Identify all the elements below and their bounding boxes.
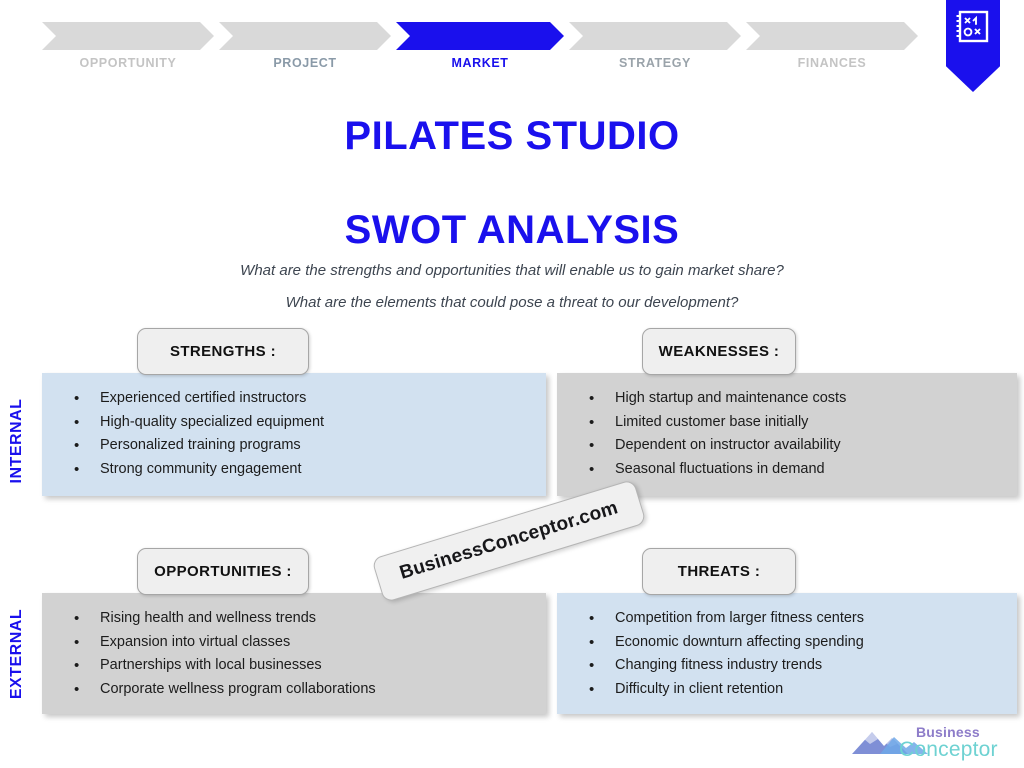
list-item: • Experienced certified instructors [42, 387, 546, 411]
company-title: PILATES STUDIO [0, 114, 1024, 159]
quadrant-title: STRENGTHS : [170, 343, 276, 360]
list-item-text: Personalized training programs [100, 434, 301, 458]
breadcrumb-step-label: FINANCES [746, 56, 918, 70]
bullet-icon: • [74, 678, 100, 702]
list-item: • High startup and maintenance costs [557, 387, 1017, 411]
list-item: • Dependent on instructor availability [557, 434, 1017, 458]
quadrant-header-weaknesses: WEAKNESSES : [642, 328, 796, 375]
list-item: • Expansion into virtual classes [42, 631, 546, 655]
quadrant-header-strengths: STRENGTHS : [137, 328, 309, 375]
quadrant-title: OPPORTUNITIES : [154, 563, 292, 580]
quadrant-header-opportunities: OPPORTUNITIES : [137, 548, 309, 595]
bullet-icon: • [74, 654, 100, 678]
list-item-text: Economic downturn affecting spending [615, 631, 864, 655]
quadrant-threats: THREATS : • Competition from larger fitn… [557, 548, 1017, 714]
list-item-text: High startup and maintenance costs [615, 387, 846, 411]
quadrant-header-threats: THREATS : [642, 548, 796, 595]
list-item: • Rising health and wellness trends [42, 607, 546, 631]
bullet-icon: • [74, 458, 100, 482]
list-item: • Corporate wellness program collaborati… [42, 678, 546, 702]
list-item: • Economic downturn affecting spending [557, 631, 1017, 655]
list-item-text: Strong community engagement [100, 458, 302, 482]
breadcrumb: OPPORTUNITY PROJECT MARKET STRATEGY FINA… [0, 0, 1024, 90]
quadrant-body-strengths: • Experienced certified instructors • Hi… [42, 373, 546, 496]
list-item-text: Competition from larger fitness centers [615, 607, 864, 631]
step-arrow-shape [746, 22, 918, 50]
bullet-icon: • [74, 434, 100, 458]
list-item-text: Corporate wellness program collaboration… [100, 678, 376, 702]
list-item: • Seasonal fluctuations in demand [557, 458, 1017, 482]
footer-logo: Business Conceptor [850, 718, 1010, 762]
list-item: • Personalized training programs [42, 434, 546, 458]
bullet-icon: • [589, 411, 615, 435]
list-item-text: Experienced certified instructors [100, 387, 306, 411]
breadcrumb-step-label: PROJECT [219, 56, 391, 70]
quadrant-body-opportunities: • Rising health and wellness trends • Ex… [42, 593, 546, 714]
analysis-title: SWOT ANALYSIS [0, 208, 1024, 253]
quadrant-strengths: STRENGTHS : • Experienced certified inst… [42, 328, 546, 496]
list-item-text: Expansion into virtual classes [100, 631, 290, 655]
bullet-icon: • [589, 678, 615, 702]
subtitle-question-2: What are the elements that could pose a … [0, 294, 1024, 311]
bullet-icon: • [589, 387, 615, 411]
footer-logo-word-conceptor: Conceptor [899, 738, 998, 762]
list-item-text: Rising health and wellness trends [100, 607, 316, 631]
breadcrumb-step-strategy[interactable]: STRATEGY [569, 22, 741, 50]
breadcrumb-step-label: STRATEGY [569, 56, 741, 70]
step-arrow-shape-active [396, 22, 564, 50]
bullet-icon: • [74, 411, 100, 435]
breadcrumb-step-label: MARKET [396, 56, 564, 70]
list-item-text: Partnerships with local businesses [100, 654, 322, 678]
list-item: • Changing fitness industry trends [557, 654, 1017, 678]
list-item: • Partnerships with local businesses [42, 654, 546, 678]
list-item-text: Seasonal fluctuations in demand [615, 458, 825, 482]
quadrant-title: WEAKNESSES : [659, 343, 780, 360]
list-item: • Difficulty in client retention [557, 678, 1017, 702]
quadrant-title: THREATS : [678, 563, 760, 580]
bullet-icon: • [589, 607, 615, 631]
bullet-icon: • [589, 631, 615, 655]
step-arrow-shape [219, 22, 391, 50]
breadcrumb-step-finances[interactable]: FINANCES [746, 22, 918, 50]
bullet-icon: • [589, 458, 615, 482]
bullet-icon: • [74, 631, 100, 655]
axis-label-external: EXTERNAL [8, 604, 26, 704]
axis-label-internal: INTERNAL [8, 391, 26, 491]
breadcrumb-step-opportunity[interactable]: OPPORTUNITY [42, 22, 214, 50]
list-item-text: High-quality specialized equipment [100, 411, 324, 435]
bullet-icon: • [589, 434, 615, 458]
step-arrow-shape [569, 22, 741, 50]
bullet-icon: • [74, 607, 100, 631]
list-item-text: Changing fitness industry trends [615, 654, 822, 678]
subtitle-question-1: What are the strengths and opportunities… [0, 262, 1024, 279]
breadcrumb-step-market[interactable]: MARKET [396, 22, 564, 50]
breadcrumb-step-label: OPPORTUNITY [42, 56, 214, 70]
list-item: • Strong community engagement [42, 458, 546, 482]
bullet-icon: • [74, 387, 100, 411]
list-item-text: Difficulty in client retention [615, 678, 783, 702]
quadrant-body-weaknesses: • High startup and maintenance costs • L… [557, 373, 1017, 496]
quadrant-body-threats: • Competition from larger fitness center… [557, 593, 1017, 714]
quadrant-weaknesses: WEAKNESSES : • High startup and maintena… [557, 328, 1017, 496]
list-item: • Limited customer base initially [557, 411, 1017, 435]
list-item-text: Limited customer base initially [615, 411, 808, 435]
list-item-text: Dependent on instructor availability [615, 434, 841, 458]
step-arrow-shape [42, 22, 214, 50]
breadcrumb-step-project[interactable]: PROJECT [219, 22, 391, 50]
strategy-playbook-icon [956, 10, 990, 44]
list-item: • High-quality specialized equipment [42, 411, 546, 435]
bullet-icon: • [589, 654, 615, 678]
list-item: • Competition from larger fitness center… [557, 607, 1017, 631]
